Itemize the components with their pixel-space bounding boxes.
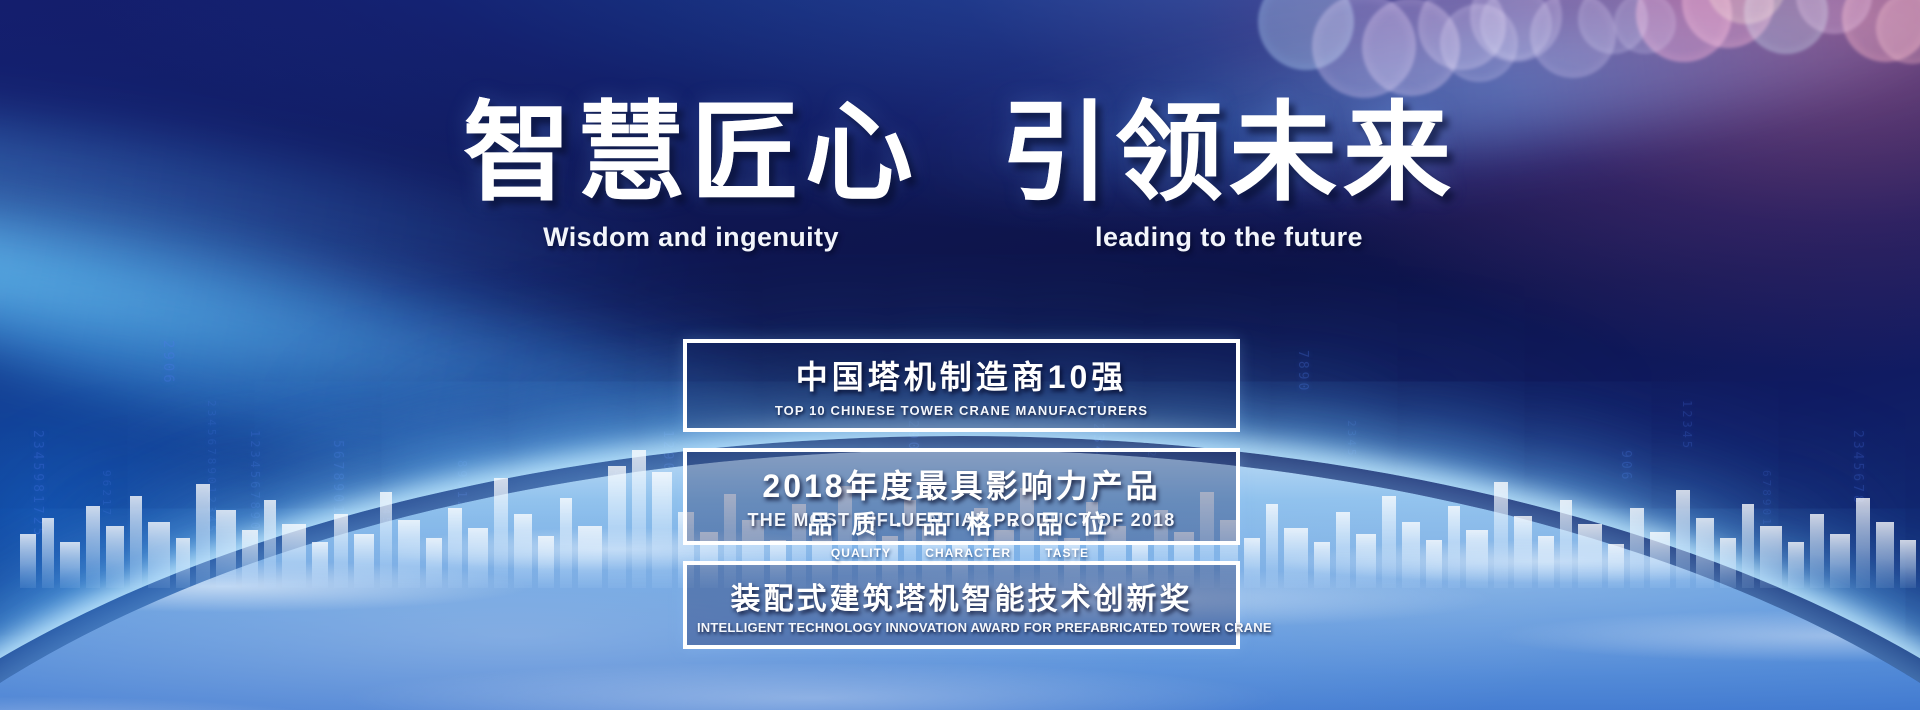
bokeh-light: [1842, 0, 1920, 62]
bokeh-light: [1258, 0, 1354, 70]
bokeh-light: [1636, 0, 1732, 62]
headline-en-right: leading to the future: [1095, 222, 1363, 253]
tagline-en-quality: QUALITY: [831, 546, 891, 560]
bokeh-light: [1470, 0, 1562, 62]
headline-cn-left: 智慧匠心: [463, 96, 919, 210]
headline-block: 智慧匠心 Wisdom and ingenuity 引领未来 leading t…: [0, 96, 1920, 253]
bokeh-light: [1440, 4, 1518, 82]
headline-row: 智慧匠心 Wisdom and ingenuity 引领未来 leading t…: [0, 96, 1920, 253]
bokeh-light: [1530, 0, 1616, 78]
bokeh-light: [1418, 0, 1506, 70]
award-title-cn: 装配式建筑塔机智能技术创新奖: [697, 574, 1226, 618]
tagline-block: 品 质 · 品 格 · 品 位 QUALITY CHARACTER TASTE: [0, 505, 1920, 560]
bokeh-light: [1876, 0, 1920, 64]
award-title-cn: 2018年度最具影响力产品: [697, 461, 1226, 507]
tagline-en-taste: TASTE: [1045, 546, 1089, 560]
award-title-en: INTELLIGENT TECHNOLOGY INNOVATION AWARD …: [697, 620, 1226, 635]
award-title-en: TOP 10 CHINESE TOWER CRANE MANUFACTURERS: [697, 403, 1226, 418]
tagline-cn: 品 质 · 品 格 · 品 位: [0, 505, 1920, 541]
bokeh-light: [1362, 0, 1460, 96]
award-list: 中国塔机制造商10强 TOP 10 CHINESE TOWER CRANE MA…: [683, 339, 1240, 649]
bokeh-light: [1614, 0, 1676, 54]
bokeh-light: [1682, 0, 1774, 48]
bokeh-light: [1312, 0, 1416, 98]
bokeh-light: [1744, 0, 1828, 54]
award-box: 装配式建筑塔机智能技术创新奖 INTELLIGENT TECHNOLOGY IN…: [683, 561, 1240, 649]
headline-en-left: Wisdom and ingenuity: [543, 222, 839, 253]
headline-right: 引领未来 leading to the future: [1001, 96, 1457, 253]
bokeh-light: [1578, 0, 1648, 54]
headline-cn-right: 引领未来: [1001, 96, 1457, 210]
award-title-cn: 中国塔机制造商10强: [697, 352, 1226, 398]
bokeh-light: [1706, 0, 1786, 24]
headline-left: 智慧匠心 Wisdom and ingenuity: [463, 96, 919, 253]
bokeh-light: [1480, 0, 1552, 60]
promo-banner: 2345981725962172906234567890123451234567…: [0, 0, 1920, 710]
tagline-en-row: QUALITY CHARACTER TASTE: [0, 546, 1920, 560]
bokeh-light: [1796, 0, 1872, 34]
tagline-en-character: CHARACTER: [925, 546, 1011, 560]
award-box: 中国塔机制造商10强 TOP 10 CHINESE TOWER CRANE MA…: [683, 339, 1240, 432]
